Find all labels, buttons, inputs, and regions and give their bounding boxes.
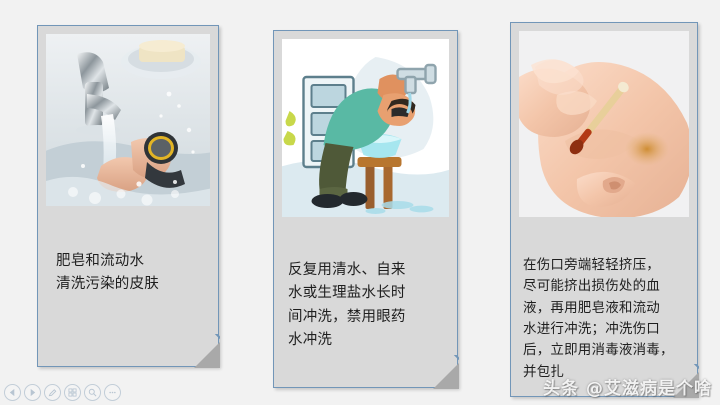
slide-canvas: 肥皂和流动水 清洗污染的皮肤 [0, 0, 720, 405]
magnifier-icon [88, 388, 97, 397]
slideshow-control-bar[interactable] [4, 384, 121, 401]
triangle-left-icon [8, 388, 17, 397]
more-options-button[interactable] [104, 384, 121, 401]
pen-annotation-button[interactable] [44, 384, 61, 401]
card-2-caption: 反复用清水、自来 水或生理盐水长时 间冲洗，禁用眼药 水冲洗 [288, 259, 447, 353]
pen-icon [48, 388, 57, 397]
zoom-in-button[interactable] [84, 384, 101, 401]
triangle-right-icon [28, 388, 37, 397]
ellipsis-icon [108, 388, 117, 397]
card-2-fold-corner [433, 363, 459, 389]
grid-icon [68, 388, 77, 397]
card-1-caption: 肥皂和流动水 清洗污染的皮肤 [56, 250, 206, 297]
info-card-3[interactable]: 在伤口旁端轻轻挤压， 尽可能挤出损伤处的血 液，再用肥皂液和流动 水进行冲洗；冲… [510, 22, 698, 397]
card-3-caption: 在伤口旁端轻轻挤压， 尽可能挤出损伤处的血 液，再用肥皂液和流动 水进行冲洗；冲… [523, 255, 687, 383]
info-card-1[interactable]: 肥皂和流动水 清洗污染的皮肤 [37, 25, 219, 367]
next-slide-button[interactable] [24, 384, 41, 401]
info-card-2[interactable]: 反复用清水、自来 水或生理盐水长时 间冲洗，禁用眼药 水冲洗 [273, 30, 458, 388]
watermark-text: 头条 @艾滋病是个啥 [543, 374, 712, 399]
card-1-image [46, 34, 210, 206]
previous-slide-button[interactable] [4, 384, 21, 401]
card-1-fold-corner [194, 342, 220, 368]
card-3-image [519, 31, 689, 217]
eye-rinsing-cartoon-illustration [282, 39, 449, 217]
all-slides-button[interactable] [64, 384, 81, 401]
card-2-image [282, 39, 449, 217]
wound-disinfection-swab-photo [519, 31, 689, 217]
handwashing-under-faucet-photo [46, 34, 210, 206]
